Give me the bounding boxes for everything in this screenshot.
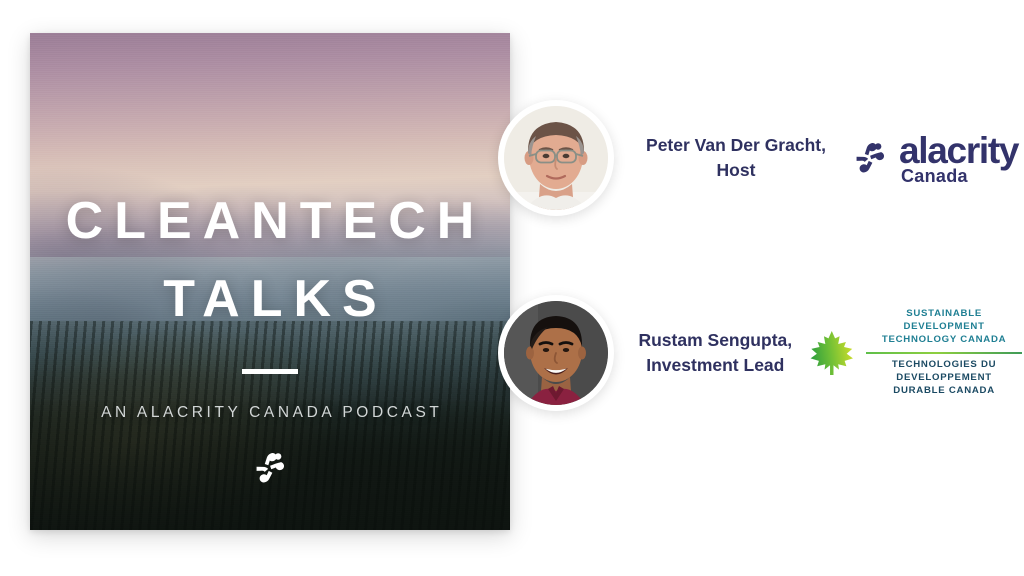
guest-row-peter-van-der-gracht: Peter Van Der Gracht, Host alacrity (498, 100, 1018, 216)
alacrity-wordmark: alacrity Canada (899, 132, 1018, 185)
organization-logo-alacrity[interactable]: alacrity Canada (850, 132, 1018, 185)
headshot-illustration (504, 106, 608, 210)
sdtc-wordmark: SUSTAINABLE DEVELOPMENT TECHNOLOGY CANAD… (864, 308, 1024, 397)
cover-text-block: CLEANTECH TALKS AN ALACRITY CANADA PODCA… (30, 33, 510, 530)
cover-subtitle: AN ALACRITY CANADA PODCAST (98, 404, 443, 422)
avatar[interactable] (498, 295, 614, 411)
guest-row-rustam-sengupta: Rustam Sengupta, Investment Lead (498, 295, 1024, 411)
alacrity-name-text: alacrity (899, 132, 1018, 169)
sdtc-en-line-1: SUSTAINABLE DEVELOPMENT (864, 308, 1024, 334)
guest-name-block: Rustam Sengupta, Investment Lead (636, 328, 795, 379)
episode-card-canvas: CLEANTECH TALKS AN ALACRITY CANADA PODCA… (0, 0, 1024, 576)
sdtc-fr-line-1: TECHNOLOGIES DU DEVELOPPEMENT (864, 359, 1024, 385)
alacrity-butterfly-mark-icon (250, 448, 290, 488)
guest-role-line: Host (717, 160, 756, 180)
sdtc-french-block: TECHNOLOGIES DU DEVELOPPEMENT DURABLE CA… (864, 359, 1024, 398)
organization-logo-sdtc[interactable]: SUSTAINABLE DEVELOPMENT TECHNOLOGY CANAD… (809, 308, 1024, 397)
headshot-illustration (504, 301, 608, 405)
guest-role-line: Investment Lead (646, 355, 784, 375)
maple-leaf-icon (809, 322, 855, 384)
avatar-image-rustam-sengupta (504, 301, 608, 405)
cover-divider-rule (242, 369, 298, 374)
guest-name-block: Peter Van Der Gracht, Host (636, 133, 836, 184)
alacrity-butterfly-mark-icon (850, 138, 890, 178)
podcast-cover-art[interactable]: CLEANTECH TALKS AN ALACRITY CANADA PODCA… (30, 33, 510, 530)
guest-name-line-1: Rustam Sengupta, (638, 330, 792, 350)
cover-title-line-2: TALKS (152, 271, 387, 327)
sdtc-fr-line-2: DURABLE CANADA (864, 385, 1024, 398)
sdtc-english-block: SUSTAINABLE DEVELOPMENT TECHNOLOGY CANAD… (864, 308, 1024, 347)
avatar-image-peter-van-der-gracht (504, 106, 608, 210)
sdtc-divider-rule (866, 352, 1022, 355)
cover-title-line-1: CLEANTECH (55, 193, 486, 249)
sdtc-en-line-2: TECHNOLOGY CANADA (864, 334, 1024, 347)
guest-name-line-1: Peter Van Der Gracht, (646, 135, 826, 155)
avatar[interactable] (498, 100, 614, 216)
